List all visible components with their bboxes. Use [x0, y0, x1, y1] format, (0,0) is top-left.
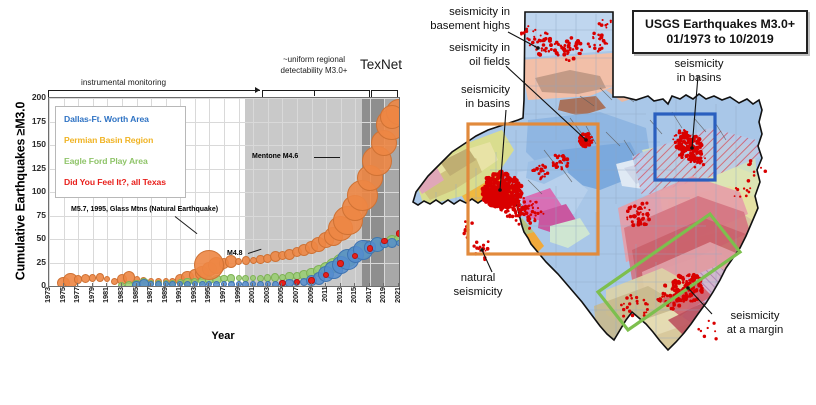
- epicenter-central: [642, 213, 645, 216]
- epicenter-south: [700, 330, 702, 332]
- epicenter-eagle-ford: [663, 283, 667, 287]
- epicenter-permian: [517, 203, 521, 207]
- epicenter-central: [645, 202, 648, 205]
- epicenter-central: [630, 205, 633, 208]
- epicenter-permian: [528, 227, 531, 230]
- epicenter-east: [739, 195, 741, 197]
- epicenter-permian: [488, 200, 491, 203]
- map-title-line1: USGS Earthquakes M3.0+: [645, 17, 795, 32]
- epicenter-eagle-ford: [645, 311, 647, 313]
- gridline-v: [326, 98, 327, 286]
- epicenter-oil-fields: [544, 176, 546, 178]
- map-label-oil-fields-line2: oil fields: [469, 56, 510, 68]
- epicenter-dfw: [695, 152, 698, 155]
- epicenter-central: [626, 216, 628, 218]
- epicenter-dfw: [672, 138, 674, 140]
- x-tick-1987: 1987: [145, 287, 155, 331]
- bubble-blue: [396, 240, 400, 246]
- epicenter-permian: [540, 210, 543, 213]
- epicenter-permian: [532, 207, 534, 209]
- epicenter-permian: [522, 206, 525, 209]
- bubble-red: [367, 245, 373, 251]
- epicenter-permian: [485, 180, 489, 184]
- x-tick-2021: 2021: [393, 287, 403, 331]
- y-tick-175: 175: [20, 117, 46, 125]
- epicenter-dfw: [674, 141, 676, 143]
- y-tick-75: 75: [20, 211, 46, 219]
- epicenter-central: [634, 215, 637, 218]
- epicenter-permian: [520, 190, 522, 192]
- epicenter-eagle-ford: [671, 308, 674, 311]
- epicenter-central: [637, 218, 639, 220]
- x-tick-1997: 1997: [218, 287, 228, 331]
- bracket-midtick: [314, 90, 315, 96]
- epicenter-permian: [534, 217, 536, 219]
- annotation-m48: M4.8: [227, 250, 243, 257]
- gridline-v: [399, 98, 400, 286]
- epicenter-basement-highs: [533, 37, 536, 40]
- epicenter-permian: [531, 210, 535, 214]
- epicenter-eagle-ford: [690, 278, 694, 282]
- epicenter-permian: [505, 172, 509, 176]
- epicenter-eagle-ford: [636, 302, 639, 305]
- epicenter-eagle-ford: [622, 315, 625, 318]
- epicenter-basement-highs: [550, 48, 553, 51]
- map-label-basins-north-line1: seismicity: [675, 58, 724, 70]
- epicenter-dfw: [696, 157, 699, 160]
- epicenter-eagle-ford: [628, 302, 631, 305]
- epicenter-dfw: [697, 161, 699, 163]
- epicenter-east: [753, 171, 756, 174]
- bubble-red: [337, 260, 343, 266]
- epicenter-permian: [542, 213, 544, 215]
- epicenter-south: [697, 328, 700, 331]
- epicenter-basement-highs: [605, 27, 607, 29]
- epicenter-permian: [506, 191, 509, 194]
- epicenter-permian: [518, 215, 520, 217]
- epicenter-permian: [495, 181, 499, 185]
- epicenter-basement-highs: [534, 29, 536, 31]
- epicenter-dfw: [681, 156, 683, 158]
- epicenter-eagle-ford: [631, 314, 635, 318]
- x-axis-tick-labels: 1973197519771979198119831985198719891991…: [48, 287, 398, 333]
- epicenter-basement-highs: [532, 30, 534, 32]
- epicenter-permian: [514, 211, 517, 214]
- epicenter-dfw: [690, 160, 692, 162]
- epicenter-dfw: [674, 135, 676, 137]
- epicenter-eagle-ford: [672, 283, 675, 286]
- epicenter-permian: [533, 219, 536, 222]
- epicenter-basement-highs: [568, 42, 571, 45]
- epicenter-permian: [523, 200, 526, 203]
- epicenter-permian: [529, 200, 531, 202]
- epicenter-basement-highs: [599, 44, 601, 46]
- epicenter-dfw: [684, 147, 687, 150]
- epicenter-basement-highs: [600, 35, 604, 39]
- epicenter-dfw: [678, 144, 680, 146]
- epicenter-oil-fields: [565, 157, 569, 161]
- epicenter-permian: [496, 174, 499, 177]
- legend-item-eagleford: Eagle Ford Play Area: [64, 156, 185, 166]
- epicenter-eagle-ford: [626, 306, 629, 309]
- map-label-oil-fields-line1: seismicity in: [449, 42, 510, 54]
- epicenter-permian: [501, 200, 504, 203]
- epicenter-eagle-ford: [657, 300, 659, 302]
- epicenter-oil-fields: [565, 164, 569, 168]
- epicenter-permian: [518, 223, 521, 226]
- epicenter-dfw: [679, 139, 682, 142]
- epicenter-basement-highs: [606, 23, 608, 25]
- epicenter-dfw: [698, 137, 701, 140]
- texas-seismicity-map: USGS Earthquakes M3.0+ 01/1973 to 10/201…: [410, 0, 816, 405]
- epicenter-basement-highs: [563, 49, 567, 53]
- epicenter-central: [644, 207, 646, 209]
- y-tick-50: 50: [20, 234, 46, 242]
- epicenter-eagle-ford: [630, 297, 633, 300]
- label-uniform-line1: ~uniform regional: [283, 55, 345, 64]
- epicenter-dfw: [694, 160, 697, 163]
- plot-area: Dallas-Ft. Worth Area Permian Basin Regi…: [48, 97, 400, 287]
- epicenter-basement-highs: [575, 46, 579, 50]
- epicenter-eagle-ford: [682, 281, 685, 284]
- epicenter-permian: [497, 185, 500, 188]
- epicenter-eagle-ford: [625, 296, 629, 300]
- epicenter-permian: [518, 212, 522, 216]
- y-axis-tick-labels: 0255075100125150175200: [18, 0, 46, 405]
- epicenter-eagle-ford: [672, 301, 675, 304]
- chart-legend: Dallas-Ft. Worth Area Permian Basin Regi…: [55, 106, 186, 198]
- epicenter-central: [640, 202, 644, 206]
- epicenter-permian: [523, 197, 525, 199]
- epicenter-permian: [517, 183, 521, 187]
- epicenter-eagle-ford: [628, 309, 631, 312]
- epicenter-oil-fields: [560, 168, 563, 171]
- epicenter-dfw: [678, 131, 682, 135]
- epicenter-basement-highs: [546, 33, 549, 36]
- y-tick-125: 125: [20, 164, 46, 172]
- epicenter-permian: [501, 209, 503, 211]
- epicenter-oil-fields: [539, 178, 542, 181]
- epicenter-east: [749, 162, 752, 165]
- epicenter-permian: [495, 199, 500, 204]
- epicenter-basement-highs: [541, 50, 543, 52]
- epicenter-basement-highs: [542, 43, 546, 47]
- x-tick-2011: 2011: [320, 287, 330, 331]
- epicenter-permian: [513, 187, 517, 191]
- epicenter-basement-highs: [531, 42, 533, 44]
- epicenter-permian: [511, 191, 513, 193]
- epicenter-eagle-ford: [643, 312, 646, 315]
- epicenter-central: [647, 214, 649, 216]
- epicenter-oil-fields: [556, 156, 559, 159]
- epicenter-east: [745, 195, 748, 198]
- epicenter-permian: [535, 201, 538, 204]
- epicenter-basement-highs: [548, 50, 551, 53]
- epicenter-oil-fields: [542, 170, 544, 172]
- epicenter-permian: [511, 199, 513, 201]
- epicenter-permian: [528, 204, 531, 207]
- epicenter-dfw: [694, 166, 697, 169]
- cumulative-earthquake-chart: Cumulative Earthquakes ≥M3.0 02550751001…: [0, 0, 410, 405]
- legend-item-dfw: Dallas-Ft. Worth Area: [64, 114, 185, 124]
- epicenter-permian: [511, 215, 515, 219]
- map-label-natural-line1: natural: [461, 272, 496, 284]
- x-tick-1995: 1995: [203, 287, 213, 331]
- epicenter-eagle-ford: [668, 294, 672, 298]
- epicenter-permian: [534, 214, 536, 216]
- epicenter-permian: [511, 184, 514, 187]
- legend-item-permian: Permian Basin Region: [64, 135, 185, 145]
- epicenter-basement-highs: [587, 42, 590, 45]
- epicenter-dfw: [697, 141, 699, 143]
- epicenter-dfw: [698, 153, 700, 155]
- epicenter-oil-fields: [543, 165, 547, 169]
- epicenter-basement-highs: [598, 23, 600, 25]
- epicenter-permian: [506, 215, 509, 218]
- bubble-large-event: [380, 105, 400, 129]
- epicenter-dfw: [699, 146, 702, 149]
- map-label-basins-north: seismicity in basins: [653, 58, 745, 85]
- epicenter-basement-highs: [592, 37, 594, 39]
- epicenter-basement-highs: [593, 44, 596, 47]
- epicenter-natural: [470, 221, 474, 225]
- epicenter-dfw: [688, 137, 692, 141]
- epicenter-oil-fields: [562, 158, 566, 162]
- gridline-v: [49, 98, 50, 286]
- epicenter-permian: [507, 198, 510, 201]
- bracket-texnet: [371, 90, 398, 97]
- epicenter-eagle-ford: [664, 292, 666, 294]
- epicenter-basement-highs: [577, 52, 580, 55]
- epicenter-oil-fields: [588, 141, 592, 145]
- epicenter-oil-fields: [579, 139, 583, 143]
- epicenter-eagle-ford: [692, 298, 696, 302]
- epicenter-permian: [492, 191, 496, 195]
- epicenter-permian: [511, 194, 513, 196]
- epicenter-central: [626, 218, 628, 220]
- epicenter-permian: [497, 204, 499, 206]
- epicenter-eagle-ford: [693, 289, 696, 292]
- epicenter-oil-fields: [546, 171, 549, 174]
- epicenter-oil-fields: [566, 162, 569, 165]
- epicenter-eagle-ford: [682, 294, 686, 298]
- x-tick-1977: 1977: [72, 287, 82, 331]
- epicenter-basement-highs: [555, 51, 559, 55]
- x-tick-1993: 1993: [189, 287, 199, 331]
- map-label-margin-line2: at a margin: [727, 324, 784, 336]
- epicenter-dfw: [685, 154, 689, 158]
- epicenter-permian: [489, 178, 491, 180]
- x-tick-1999: 1999: [233, 287, 243, 331]
- epicenter-natural: [475, 241, 478, 244]
- epicenter-eagle-ford: [623, 303, 625, 305]
- epicenter-basement-highs: [527, 25, 529, 27]
- x-tick-2007: 2007: [291, 287, 301, 331]
- epicenter-dfw: [691, 152, 694, 155]
- epicenter-basement-highs: [600, 47, 603, 50]
- epicenter-eagle-ford: [643, 299, 646, 302]
- epicenter-basement-highs: [537, 52, 541, 56]
- bubble-orange: [242, 256, 250, 264]
- epicenter-dfw: [694, 135, 698, 139]
- epicenter-basement-highs: [575, 41, 578, 44]
- y-tick-150: 150: [20, 140, 46, 148]
- map-label-natural-seismicity: natural seismicity: [432, 272, 524, 299]
- annotation-glass-mtns: M5.7, 1995, Glass Mtns (Natural Earthqua…: [71, 206, 218, 213]
- map-label-basement-highs-line1: seismicity in: [449, 6, 510, 18]
- epicenter-basement-highs: [580, 49, 583, 52]
- epicenter-oil-fields: [538, 165, 540, 167]
- epicenter-basement-highs: [597, 33, 600, 36]
- epicenter-eagle-ford: [685, 280, 688, 283]
- epicenter-eagle-ford: [663, 296, 665, 298]
- epicenter-permian: [536, 212, 539, 215]
- epicenter-oil-fields: [552, 165, 554, 167]
- x-tick-1983: 1983: [116, 287, 126, 331]
- x-tick-2017: 2017: [364, 287, 374, 331]
- y-tick-25: 25: [20, 258, 46, 266]
- epicenter-basement-highs: [572, 57, 576, 61]
- x-tick-2013: 2013: [335, 287, 345, 331]
- epicenter-permian: [517, 187, 520, 190]
- epicenter-basement-highs: [539, 39, 542, 42]
- epicenter-permian: [512, 207, 514, 209]
- epicenter-east: [748, 191, 751, 194]
- epicenter-permian: [532, 203, 534, 205]
- epicenter-natural: [487, 240, 490, 243]
- epicenter-basement-highs: [566, 51, 569, 54]
- epicenter-east: [749, 187, 751, 189]
- epicenter-eagle-ford: [700, 285, 702, 287]
- epicenter-permian: [527, 219, 530, 222]
- y-tick-100: 100: [20, 187, 46, 195]
- epicenter-basement-highs: [568, 59, 571, 62]
- epicenter-basement-highs: [545, 50, 547, 52]
- bubble-red: [381, 238, 387, 244]
- epicenter-central: [631, 220, 634, 223]
- epicenter-dfw: [684, 130, 687, 133]
- map-label-margin-line1: seismicity: [731, 310, 780, 322]
- epicenter-dfw: [676, 139, 679, 142]
- epicenter-eagle-ford: [620, 304, 623, 307]
- epicenter-central: [633, 204, 637, 208]
- epicenter-basement-highs: [549, 43, 553, 47]
- epicenter-permian: [515, 219, 518, 222]
- epicenter-eagle-ford: [635, 296, 638, 299]
- epicenter-eagle-ford: [675, 299, 679, 303]
- map-title-box: USGS Earthquakes M3.0+ 01/1973 to 10/201…: [632, 10, 808, 54]
- epicenter-eagle-ford: [691, 275, 694, 278]
- epicenter-permian: [527, 207, 529, 209]
- map-label-basins-west: seismicity in basins: [410, 84, 510, 111]
- epicenter-basement-highs: [526, 37, 529, 40]
- epicenter-central: [647, 218, 651, 222]
- epicenter-central: [629, 215, 632, 218]
- epicenter-permian: [537, 207, 539, 209]
- epicenter-permian: [504, 210, 508, 214]
- epicenter-dfw: [693, 157, 695, 159]
- epicenter-natural: [485, 250, 487, 252]
- epicenter-eagle-ford: [622, 308, 625, 311]
- epicenter-basement-highs: [600, 23, 603, 26]
- label-instrumental-monitoring: instrumental monitoring: [78, 78, 169, 87]
- epicenter-dfw: [704, 157, 706, 159]
- epicenter-permian: [492, 185, 496, 189]
- epicenter-eagle-ford: [682, 278, 684, 280]
- epicenter-permian: [525, 206, 527, 208]
- epicenter-central: [645, 223, 648, 226]
- epicenter-oil-fields: [536, 169, 538, 171]
- epicenter-central: [636, 211, 640, 215]
- epicenter-basement-highs: [588, 45, 591, 48]
- epicenter-eagle-ford: [629, 294, 632, 297]
- bubble-red: [396, 230, 400, 236]
- epicenter-dfw: [681, 143, 683, 145]
- x-tick-2019: 2019: [378, 287, 388, 331]
- epicenter-basement-highs: [602, 19, 604, 21]
- x-tick-1989: 1989: [160, 287, 170, 331]
- x-tick-1975: 1975: [58, 287, 68, 331]
- epicenter-basement-highs: [593, 47, 597, 51]
- epicenter-dfw: [702, 163, 705, 166]
- epicenter-oil-fields: [584, 142, 587, 145]
- epicenter-basement-highs: [542, 38, 546, 42]
- epicenter-natural: [482, 244, 485, 247]
- epicenter-basement-highs: [545, 47, 548, 50]
- map-label-oil-fields: seismicity in oil fields: [410, 42, 510, 69]
- epicenter-eagle-ford: [687, 274, 690, 277]
- epicenter-permian: [525, 211, 529, 215]
- epicenter-basement-highs: [567, 46, 570, 49]
- epicenter-natural: [464, 220, 467, 223]
- bubble-orange: [104, 276, 110, 282]
- bracket-arrow-icon: [255, 87, 260, 93]
- epicenter-central: [638, 206, 642, 210]
- epicenter-basement-highs: [592, 32, 596, 36]
- epicenter-permian: [527, 215, 531, 219]
- epicenter-eagle-ford: [666, 294, 669, 297]
- epicenter-permian: [529, 213, 532, 216]
- epicenter-basement-highs: [572, 48, 575, 51]
- map-label-basins-north-line2: in basins: [677, 72, 722, 84]
- epicenter-eagle-ford: [700, 290, 704, 294]
- map-label-natural-line2: seismicity: [454, 286, 503, 298]
- epicenter-east: [764, 169, 768, 173]
- epicenter-permian: [513, 202, 516, 205]
- epicenter-basement-highs: [562, 53, 566, 57]
- epicenter-basement-highs: [520, 31, 523, 34]
- epicenter-eagle-ford: [662, 293, 665, 296]
- epicenter-central: [626, 209, 630, 213]
- epicenter-oil-fields: [586, 134, 588, 136]
- bubble-orange: [96, 273, 104, 281]
- y-tick-200: 200: [20, 93, 46, 101]
- epicenter-oil-fields: [538, 172, 541, 175]
- epicenter-basement-highs: [604, 41, 607, 44]
- epicenter-eagle-ford: [646, 308, 649, 311]
- epicenter-central: [631, 223, 635, 227]
- epicenter-east: [753, 174, 756, 177]
- x-tick-2009: 2009: [306, 287, 316, 331]
- epicenter-permian: [505, 179, 507, 181]
- epicenter-oil-fields: [561, 162, 563, 164]
- annotation-leader-line: [314, 157, 340, 158]
- epicenter-eagle-ford: [696, 288, 698, 290]
- epicenter-permian: [481, 191, 486, 196]
- epicenter-eagle-ford: [661, 295, 663, 297]
- x-tick-1973: 1973: [43, 287, 53, 331]
- epicenter-central: [641, 217, 645, 221]
